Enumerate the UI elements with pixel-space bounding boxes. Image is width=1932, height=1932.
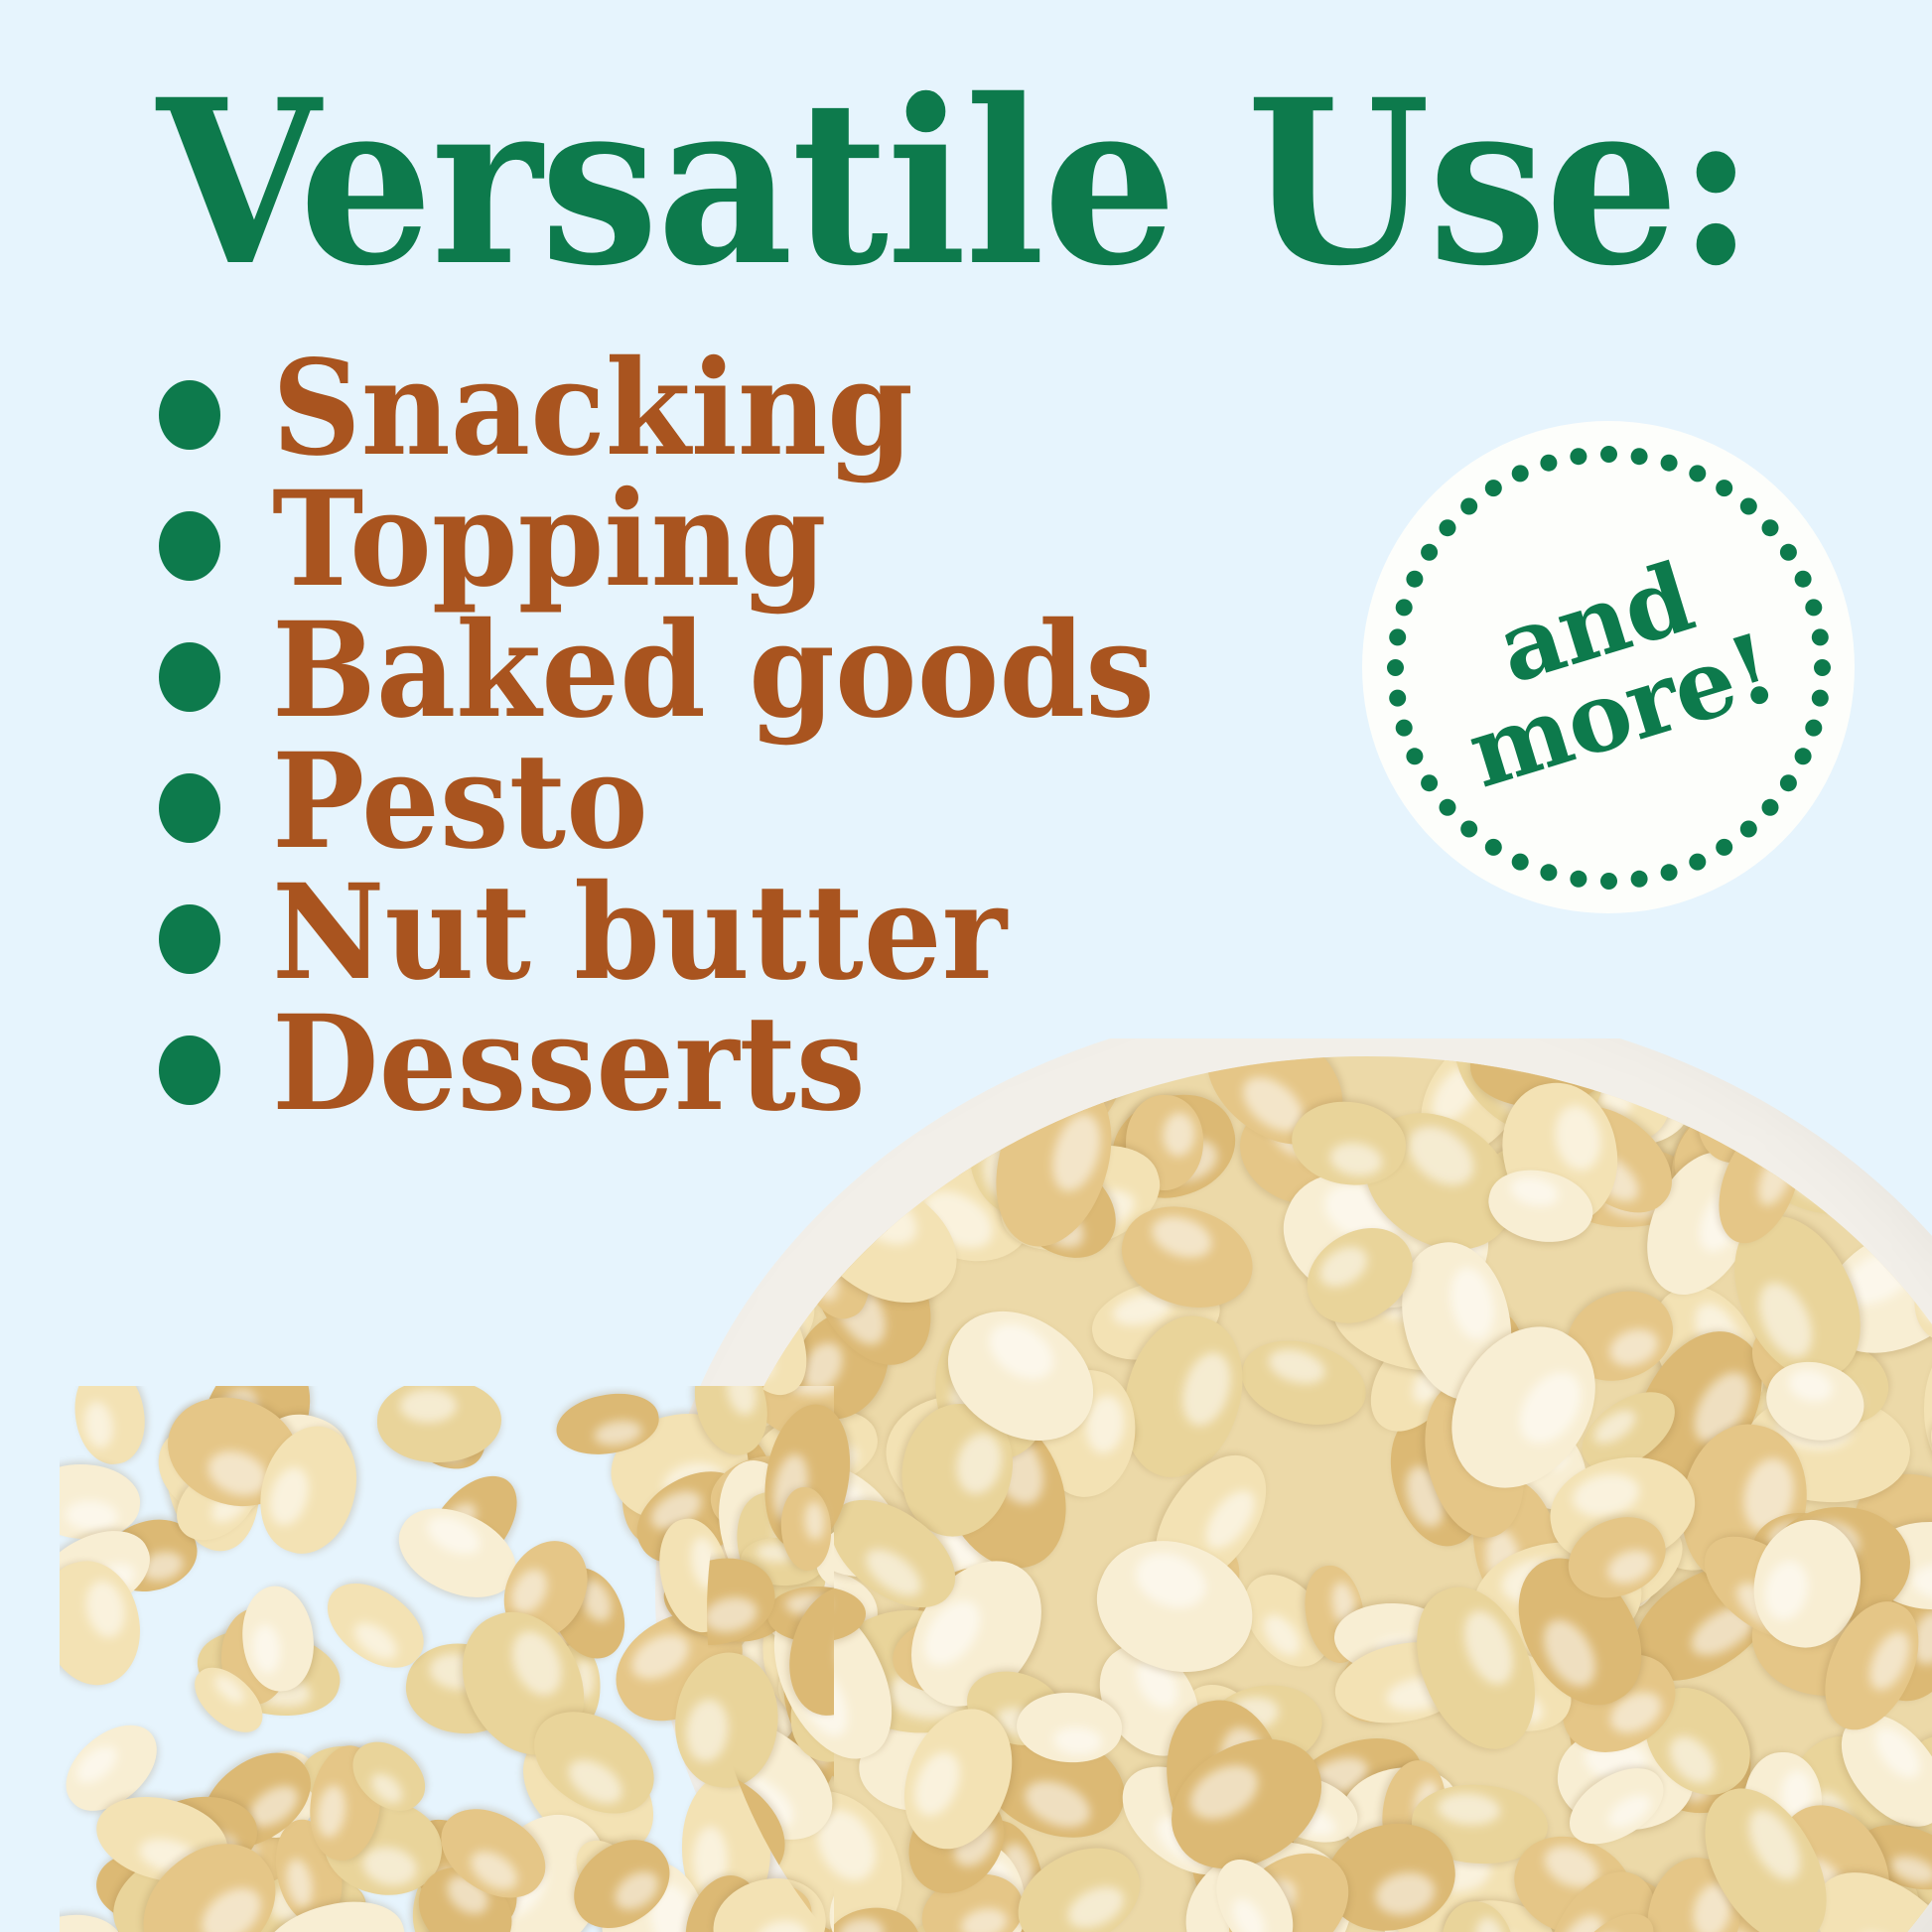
bullet-dot-icon [159, 773, 220, 843]
list-item: Baked goods [159, 612, 1350, 743]
list-item-label: Nut butter [272, 868, 1007, 999]
list-item: Snacking [159, 349, 1350, 481]
pine-nut [69, 1386, 150, 1468]
page-title: Versatile Use: [157, 69, 1726, 296]
list-item: Pesto [159, 743, 1350, 874]
bullet-dot-icon [159, 380, 220, 450]
list-item: Nut butter [159, 874, 1350, 1005]
badge-text: and more! [1433, 534, 1785, 800]
pine-nut [1924, 1324, 1932, 1494]
list-item-label: Snacking [272, 344, 913, 475]
poster-canvas: Versatile Use: Snacking Topping Baked go… [0, 0, 1932, 1932]
list-item: Topping [159, 481, 1350, 612]
versatile-use-list: Snacking Topping Baked goods Pesto Nut b… [159, 349, 1350, 1136]
bowl-nuts-fill [707, 1056, 1932, 1932]
bullet-dot-icon [159, 642, 220, 712]
and-more-badge: and more! [1362, 421, 1855, 913]
list-item-label: Baked goods [272, 606, 1155, 737]
bullet-dot-icon [159, 904, 220, 974]
list-item-label: Topping [272, 475, 826, 606]
bullet-dot-icon [159, 511, 220, 581]
pine-nuts-photo [0, 1038, 1932, 1932]
list-item-label: Pesto [272, 737, 648, 868]
